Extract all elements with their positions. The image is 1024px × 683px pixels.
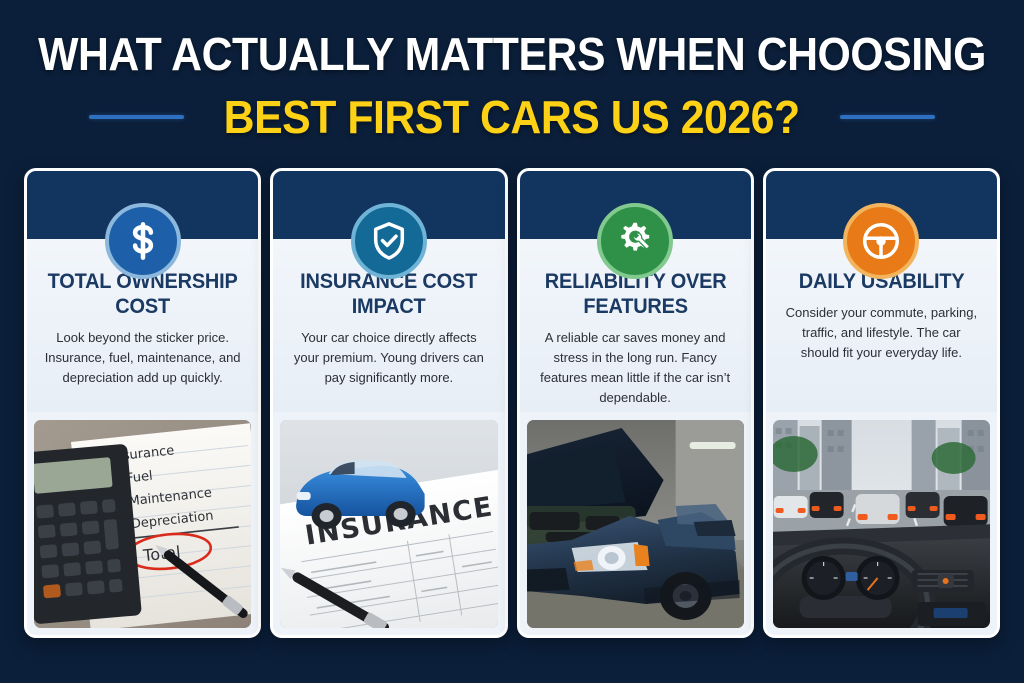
toy-car-on-insurance-document-photo: INSURANCE [280,420,497,628]
divider-rule-right [840,115,935,119]
card-body: INSURANCE COST IMPACT Your car choice di… [273,239,504,412]
card-total-ownership-cost[interactable]: TOTAL OWNERSHIP COST Look beyond the sti… [24,168,261,638]
card-reliability-over-features[interactable]: RELIABILITY OVER FEATURES A reliable car… [517,168,754,638]
card-description: A reliable car saves money and stress in… [530,328,741,408]
poster-title-line1: WHAT ACTUALLY MATTERS WHEN CHOOSING [36,26,988,82]
poster-title-line2: BEST FIRST CARS US 2026? [224,89,800,145]
dollar-sign-icon [105,203,181,279]
card-insurance-cost-impact[interactable]: INSURANCE COST IMPACT Your car choice di… [270,168,507,638]
poster-subtitle-row: BEST FIRST CARS US 2026? [0,86,1024,148]
card-description: Look beyond the sticker price. Insurance… [37,328,248,388]
card-body: RELIABILITY OVER FEATURES A reliable car… [520,239,751,412]
car-with-open-hood-photo [527,420,744,628]
calculator-and-notepad-photo: Insurance + Fuel + Maintenance + Depreci… [34,420,251,628]
shield-check-icon [351,203,427,279]
card-description: Your car choice directly affects your pr… [283,328,494,388]
driver-view-city-traffic-photo [773,420,990,628]
card-body: DAILY USABILITY Consider your commute, p… [766,239,997,412]
divider-rule-left [89,115,184,119]
card-grid: TOTAL OWNERSHIP COST Look beyond the sti… [24,168,1000,638]
card-description: Consider your commute, parking, traffic,… [776,303,987,363]
gear-wrench-icon [597,203,673,279]
infographic-poster: WHAT ACTUALLY MATTERS WHEN CHOOSING BEST… [0,0,1024,683]
steering-wheel-icon [843,203,919,279]
card-daily-usability[interactable]: DAILY USABILITY Consider your commute, p… [763,168,1000,638]
poster-header: WHAT ACTUALLY MATTERS WHEN CHOOSING BEST… [0,0,1024,155]
card-body: TOTAL OWNERSHIP COST Look beyond the sti… [27,239,258,412]
